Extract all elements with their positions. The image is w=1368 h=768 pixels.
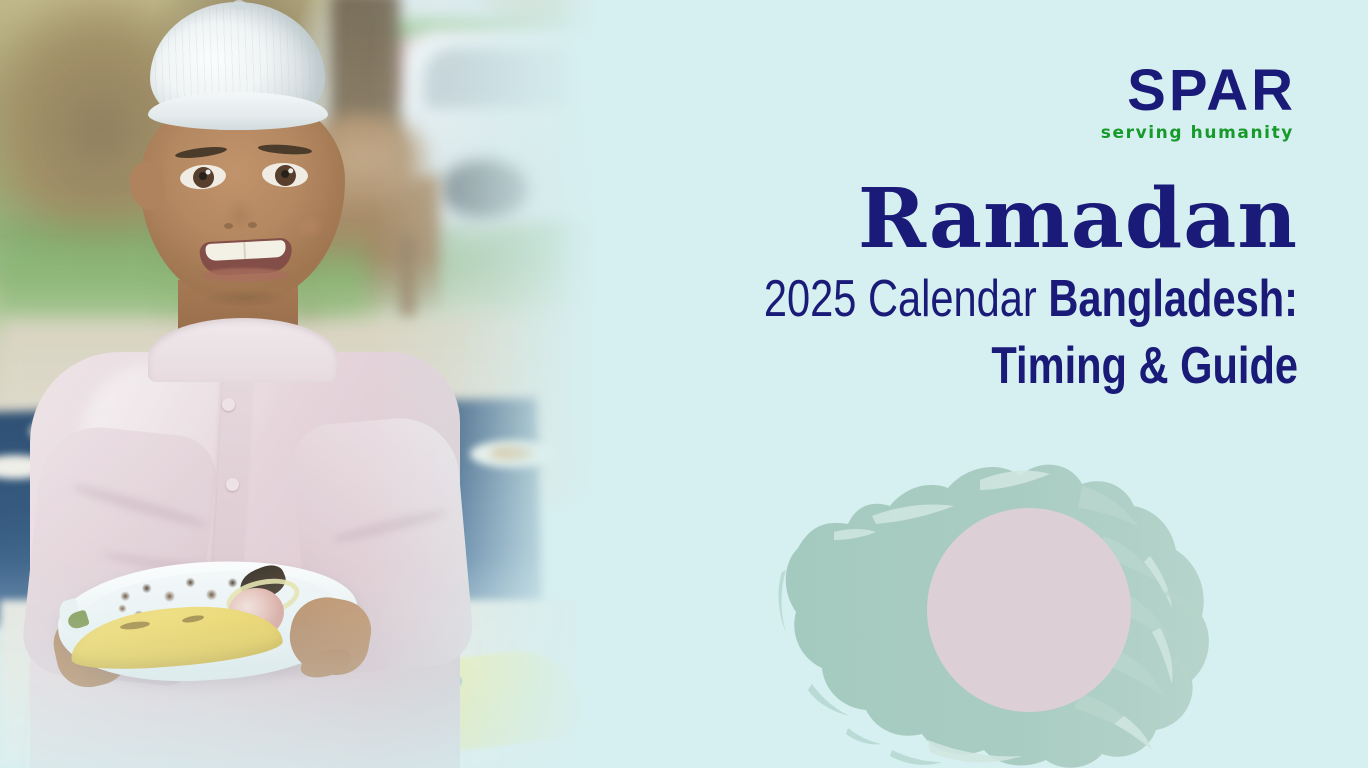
kurta-button [222,398,235,411]
headline-line-2: Timing & Guide [722,333,1298,400]
headline-block: Ramadan 2025 Calendar Bangladesh: Timing… [578,178,1298,399]
boy-lower-lip [202,268,288,282]
boy-nostril-right [248,222,257,228]
headline-subtitle: 2025 Calendar Bangladesh: [722,266,1298,333]
boy-chin-shadow [185,285,305,311]
prayer-cap-tip [232,0,246,10]
photo-background-car-window [425,48,575,108]
ramadan-banner: SPAR serving humanity Ramadan 2025 Calen… [0,0,1368,768]
logo-wordmark: SPAR [1101,62,1296,120]
kurta-button [226,478,239,491]
page-title: Ramadan [578,178,1298,260]
prayer-cap-band [148,92,328,130]
boy-nostril-left [224,223,233,229]
photo-composition [0,0,600,768]
photo-background-plate-3 [470,440,556,468]
bangladesh-flag-graphic [752,440,1222,768]
boy-cheek [290,210,330,244]
photo-background-car-wheel [440,160,530,218]
headline-subtitle-light: 2025 Calendar [764,270,1048,328]
spar-logo[interactable]: SPAR serving humanity [1101,62,1296,142]
hero-photo [0,0,600,768]
flag-circle [927,508,1131,712]
logo-tagline: serving humanity [1101,125,1294,142]
photo-background-chair-leg-2 [400,235,416,320]
headline-subtitle-bold: Bangladesh: [1048,270,1298,328]
